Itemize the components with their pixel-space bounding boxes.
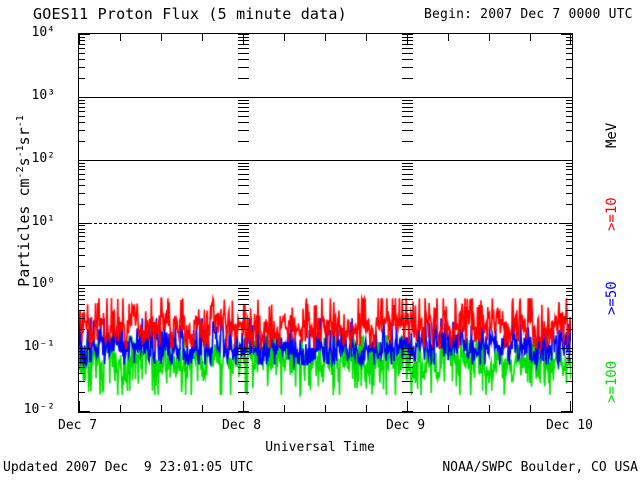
y-tick-minor bbox=[566, 362, 572, 363]
x-tick-minor bbox=[448, 34, 449, 41]
y-tick-minor bbox=[79, 111, 85, 112]
y-axis-title: Particles cm-2s-1sr-1 bbox=[15, 0, 33, 411]
y-tick-minor bbox=[79, 169, 85, 170]
y-tick-minor bbox=[566, 179, 572, 180]
y-tick-minor bbox=[79, 78, 85, 79]
y-tick-major bbox=[79, 160, 90, 161]
x-tick-minor bbox=[120, 34, 121, 41]
y-tick-minor bbox=[79, 295, 85, 296]
gridline-horizontal-dashed bbox=[79, 223, 572, 224]
y-tick-minor bbox=[79, 299, 85, 300]
y-tick-minor bbox=[566, 53, 572, 54]
y-tick-minor bbox=[79, 358, 85, 359]
y-tick-minor bbox=[79, 193, 85, 194]
y-tick-minor bbox=[79, 225, 85, 226]
y-tick-minor bbox=[566, 169, 572, 170]
y-tick-minor bbox=[566, 130, 572, 131]
x-axis-title: Universal Time bbox=[0, 440, 640, 455]
y-tick-minor bbox=[566, 318, 572, 319]
y-tick-minor bbox=[79, 392, 85, 393]
y-tick-minor bbox=[79, 351, 85, 352]
y-tick-minor bbox=[79, 241, 85, 242]
y-tick-minor bbox=[566, 236, 572, 237]
y-tick-major bbox=[79, 97, 90, 98]
y-tick-minor bbox=[566, 48, 572, 49]
x-tick-minor bbox=[325, 405, 326, 412]
x-axis-tick-label: Dec 8 bbox=[222, 418, 261, 433]
y-tick-minor bbox=[79, 362, 85, 363]
y-tick-minor bbox=[566, 107, 572, 108]
y-tick-minor bbox=[566, 141, 572, 142]
y-tick-minor bbox=[79, 329, 85, 330]
y-tick-minor bbox=[79, 166, 85, 167]
legend-series-p100: >=100 bbox=[604, 361, 620, 403]
y-tick-minor bbox=[566, 367, 572, 368]
y-tick-minor bbox=[566, 358, 572, 359]
begin-time-label: Begin: 2007 Dec 7 0000 UTC bbox=[424, 7, 633, 22]
y-tick-minor bbox=[79, 48, 85, 49]
proton-flux-plot-page: GOES11 Proton Flux (5 minute data) Begin… bbox=[0, 0, 640, 480]
y-tick-minor bbox=[566, 295, 572, 296]
y-tick-minor bbox=[566, 78, 572, 79]
x-tick-major bbox=[570, 34, 571, 45]
y-tick-minor bbox=[79, 236, 85, 237]
y-tick-major bbox=[561, 348, 572, 349]
page-title: GOES11 Proton Flux (5 minute data) bbox=[33, 5, 347, 23]
x-tick-minor bbox=[161, 405, 162, 412]
legend-unit-mev: MeV bbox=[604, 123, 620, 148]
y-tick-minor bbox=[79, 266, 85, 267]
y-tick-minor bbox=[79, 130, 85, 131]
y-tick-minor bbox=[566, 67, 572, 68]
y-tick-minor bbox=[79, 100, 85, 101]
y-tick-minor bbox=[79, 67, 85, 68]
plot-area bbox=[78, 33, 573, 413]
x-tick-minor bbox=[366, 405, 367, 412]
legend-series-p10: >=10 bbox=[604, 197, 620, 231]
gridline-horizontal bbox=[79, 97, 572, 98]
y-tick-major bbox=[561, 160, 572, 161]
y-tick-minor bbox=[566, 381, 572, 382]
y-tick-minor bbox=[566, 204, 572, 205]
y-tick-minor bbox=[79, 174, 85, 175]
y-tick-minor bbox=[566, 185, 572, 186]
y-tick-minor bbox=[79, 53, 85, 54]
y-tick-minor bbox=[79, 291, 85, 292]
y-tick-minor bbox=[566, 329, 572, 330]
y-tick-minor bbox=[566, 122, 572, 123]
x-tick-minor bbox=[448, 405, 449, 412]
x-axis-tick-label: Dec 10 bbox=[546, 418, 593, 433]
y-tick-major bbox=[79, 34, 90, 35]
y-tick-minor bbox=[79, 232, 85, 233]
y-tick-minor bbox=[566, 174, 572, 175]
x-tick-minor bbox=[325, 34, 326, 41]
y-axis-tick-label: 10¹ bbox=[32, 214, 55, 229]
y-tick-minor bbox=[79, 204, 85, 205]
x-tick-major bbox=[79, 34, 80, 45]
y-tick-minor bbox=[79, 248, 85, 249]
y-tick-minor bbox=[79, 185, 85, 186]
y-tick-minor bbox=[566, 255, 572, 256]
y-tick-minor bbox=[79, 310, 85, 311]
y-tick-minor bbox=[566, 299, 572, 300]
y-tick-minor bbox=[566, 100, 572, 101]
y-tick-minor bbox=[566, 163, 572, 164]
x-tick-minor bbox=[489, 405, 490, 412]
y-tick-major bbox=[561, 97, 572, 98]
y-tick-minor bbox=[566, 291, 572, 292]
y-tick-minor bbox=[566, 193, 572, 194]
y-tick-minor bbox=[79, 255, 85, 256]
source-attribution: NOAA/SWPC Boulder, CO USA bbox=[442, 460, 638, 475]
y-axis-tick-label: 10⁴ bbox=[32, 25, 55, 40]
x-tick-minor bbox=[120, 405, 121, 412]
y-tick-minor bbox=[566, 354, 572, 355]
y-tick-minor bbox=[79, 141, 85, 142]
y-tick-major bbox=[79, 223, 90, 224]
y-tick-minor bbox=[79, 59, 85, 60]
x-tick-minor bbox=[202, 405, 203, 412]
y-tick-minor bbox=[566, 266, 572, 267]
x-tick-major bbox=[570, 401, 571, 412]
y-tick-major bbox=[79, 411, 90, 412]
y-tick-minor bbox=[79, 367, 85, 368]
legend-series-p50: >=50 bbox=[604, 281, 620, 315]
y-tick-major bbox=[79, 285, 90, 286]
y-tick-major bbox=[79, 348, 90, 349]
y-tick-minor bbox=[79, 288, 85, 289]
y-tick-minor bbox=[79, 163, 85, 164]
y-tick-minor bbox=[566, 241, 572, 242]
x-axis-tick-label: Dec 7 bbox=[58, 418, 97, 433]
y-tick-minor bbox=[566, 232, 572, 233]
y-tick-minor bbox=[566, 304, 572, 305]
x-axis-tick-label: Dec 9 bbox=[386, 418, 425, 433]
x-tick-minor bbox=[284, 34, 285, 41]
y-tick-major bbox=[561, 223, 572, 224]
y-tick-minor bbox=[566, 225, 572, 226]
y-axis-tick-label: 10³ bbox=[32, 88, 55, 103]
y-tick-minor bbox=[566, 392, 572, 393]
y-tick-minor bbox=[79, 304, 85, 305]
x-tick-minor bbox=[284, 405, 285, 412]
y-tick-minor bbox=[566, 166, 572, 167]
y-tick-minor bbox=[566, 310, 572, 311]
y-tick-minor bbox=[79, 354, 85, 355]
y-tick-minor bbox=[566, 111, 572, 112]
y-tick-minor bbox=[79, 116, 85, 117]
x-tick-minor bbox=[202, 34, 203, 41]
y-tick-minor bbox=[566, 116, 572, 117]
y-tick-minor bbox=[566, 288, 572, 289]
gridline-horizontal bbox=[79, 285, 572, 286]
y-tick-minor bbox=[79, 103, 85, 104]
y-axis-tick-label: 10⁰ bbox=[32, 276, 55, 291]
x-tick-minor bbox=[161, 34, 162, 41]
y-tick-minor bbox=[566, 103, 572, 104]
x-tick-minor bbox=[530, 34, 531, 41]
y-axis-tick-label: 10² bbox=[32, 151, 55, 166]
y-tick-minor bbox=[566, 59, 572, 60]
y-tick-minor bbox=[566, 229, 572, 230]
y-tick-minor bbox=[79, 107, 85, 108]
y-tick-minor bbox=[79, 179, 85, 180]
y-tick-minor bbox=[566, 373, 572, 374]
y-tick-minor bbox=[79, 318, 85, 319]
y-tick-minor bbox=[79, 373, 85, 374]
y-tick-minor bbox=[79, 122, 85, 123]
y-tick-major bbox=[561, 285, 572, 286]
y-tick-minor bbox=[566, 248, 572, 249]
y-tick-minor bbox=[79, 229, 85, 230]
x-tick-minor bbox=[489, 34, 490, 41]
x-tick-major bbox=[79, 401, 80, 412]
updated-timestamp: Updated 2007 Dec 9 23:01:05 UTC bbox=[3, 460, 253, 475]
y-tick-minor bbox=[79, 381, 85, 382]
x-tick-minor bbox=[366, 34, 367, 41]
gridline-horizontal bbox=[79, 160, 572, 161]
y-tick-minor bbox=[566, 351, 572, 352]
x-tick-minor bbox=[530, 405, 531, 412]
